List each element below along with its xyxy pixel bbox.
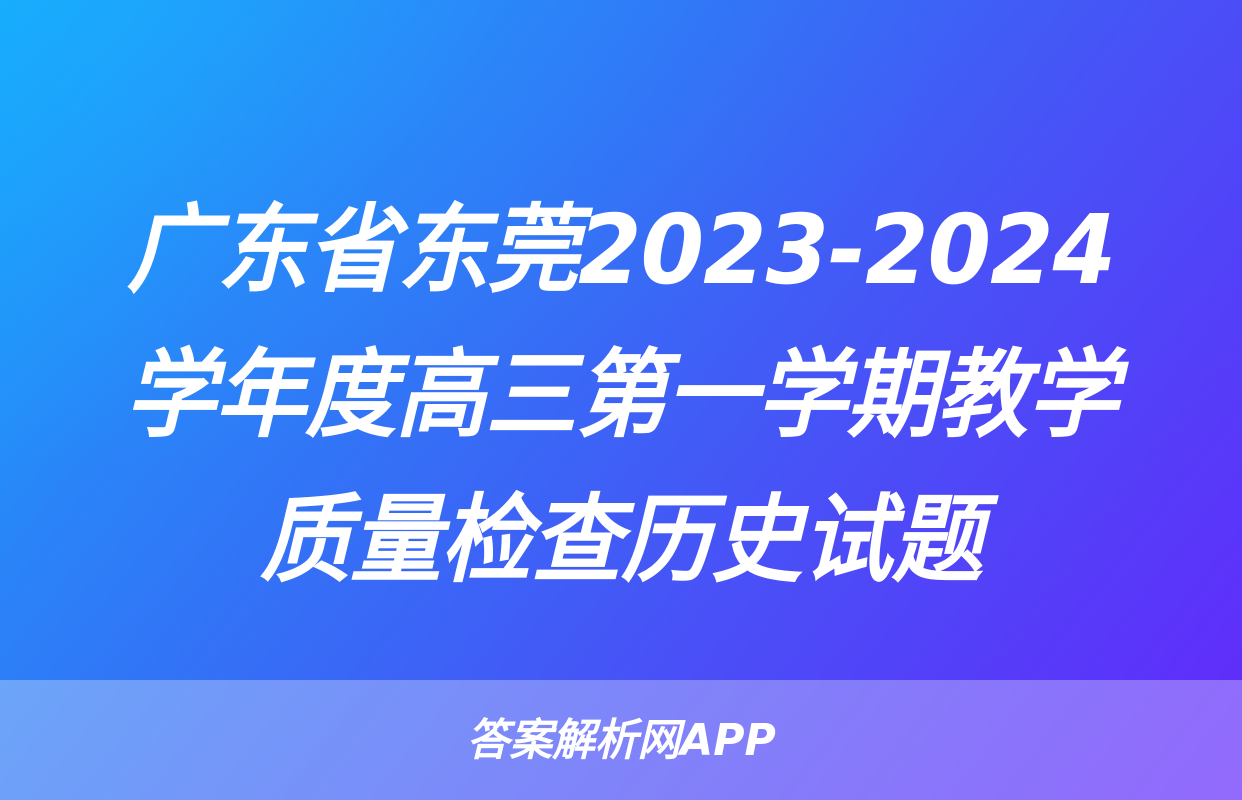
- poster-canvas: 广东省东莞2023-2024 学年度高三第一学期教学 质量检查历史试题 答案解析…: [0, 0, 1242, 800]
- brand-name-label: 答案解析网APP: [466, 717, 775, 765]
- title-line-2: 学年度高三第一学期教学: [31, 323, 1211, 468]
- page-title: 广东省东莞2023-2024 学年度高三第一学期教学 质量检查历史试题: [0, 178, 1242, 613]
- footer-brand-bar: 答案解析网APP: [0, 680, 1242, 800]
- title-line-1: 广东省东莞2023-2024: [31, 178, 1211, 323]
- title-line-3: 质量检查历史试题: [31, 468, 1211, 613]
